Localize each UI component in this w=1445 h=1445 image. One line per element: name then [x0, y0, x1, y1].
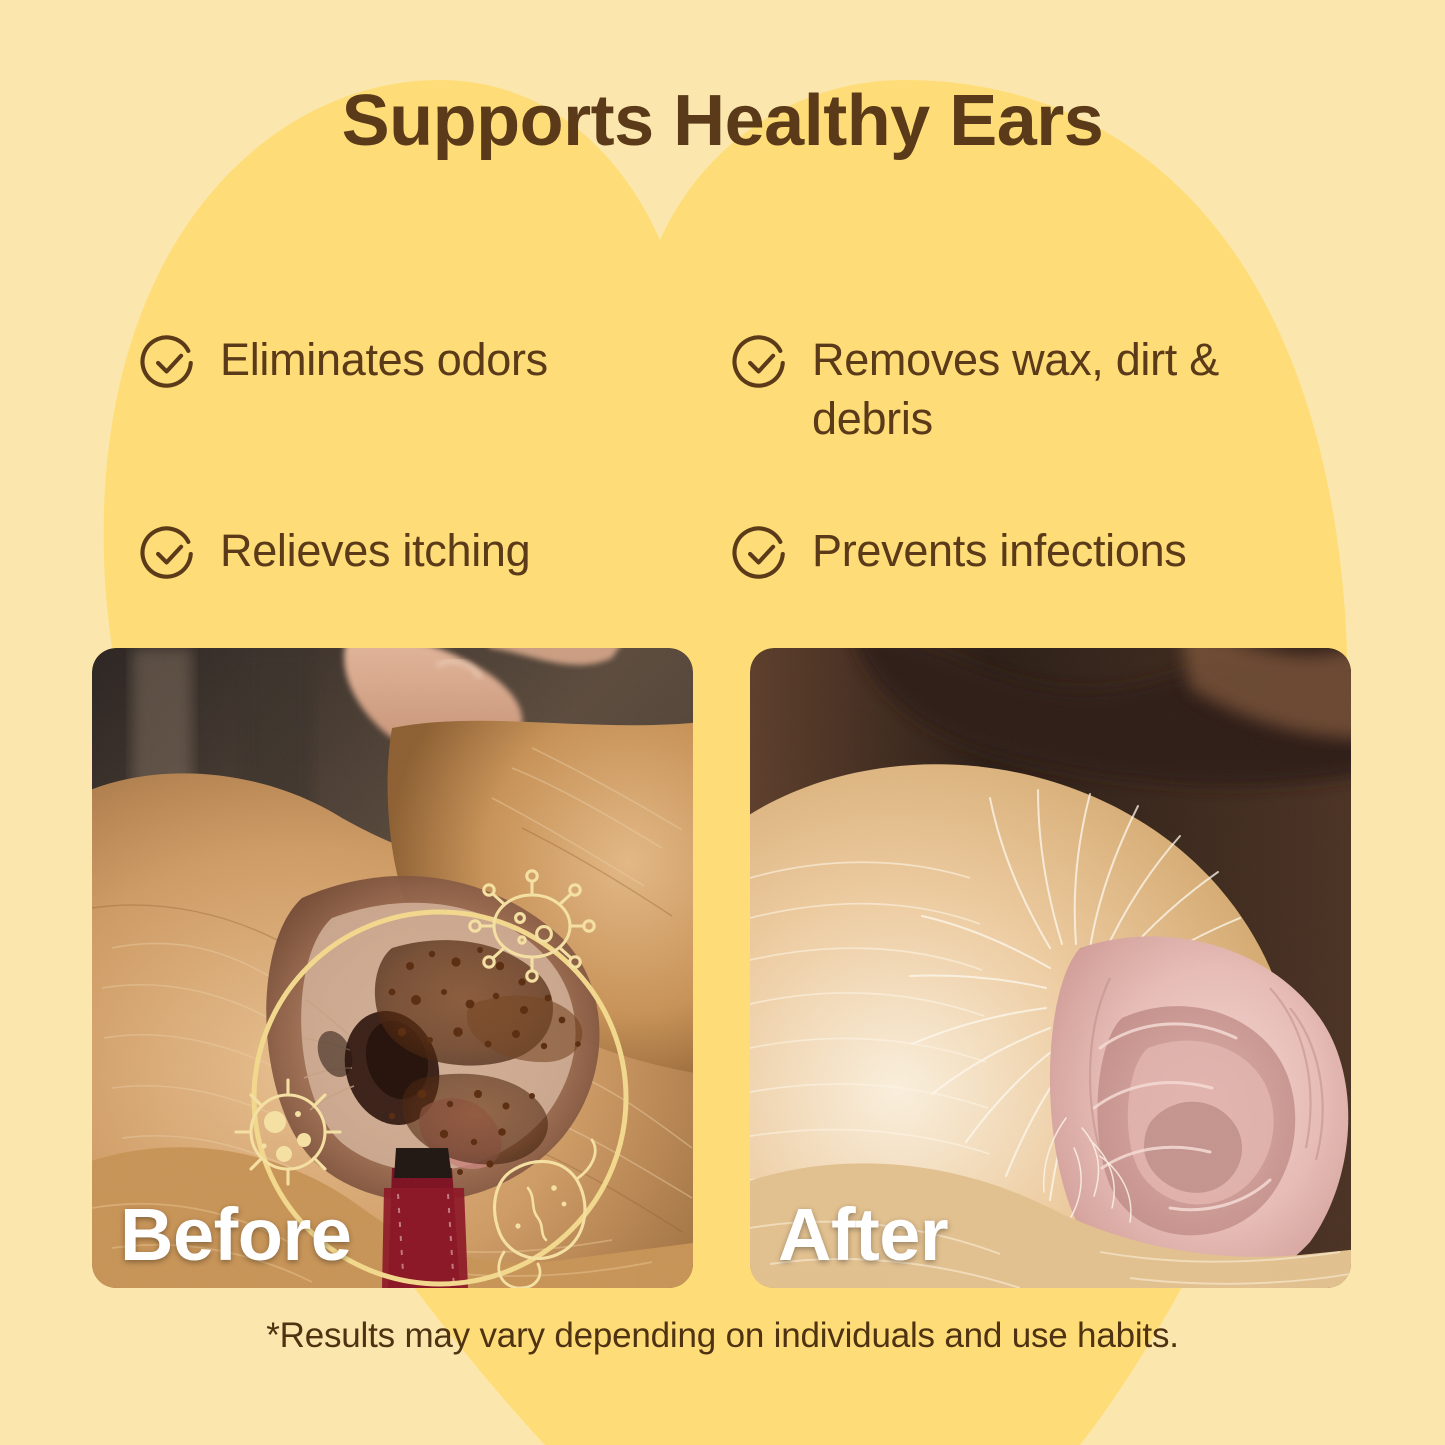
- results-disclaimer: *Results may vary depending on individua…: [0, 1316, 1445, 1356]
- benefit-item: Prevents infections: [732, 521, 1320, 583]
- before-after-comparison: Before: [92, 648, 1354, 1288]
- benefits-list: Eliminates odors Removes wax, dirt & deb…: [140, 330, 1320, 583]
- page-title: Supports Healthy Ears: [0, 84, 1445, 160]
- after-caption: After: [778, 1198, 948, 1272]
- after-photo-image: [750, 648, 1351, 1288]
- check-circle-icon: [140, 525, 198, 583]
- benefit-item: Removes wax, dirt & debris: [732, 330, 1320, 449]
- benefit-item: Relieves itching: [140, 521, 732, 583]
- benefit-label: Relieves itching: [220, 521, 530, 580]
- benefit-item: Eliminates odors: [140, 330, 732, 449]
- benefit-label: Removes wax, dirt & debris: [812, 330, 1320, 449]
- before-photo-card: Before: [92, 648, 693, 1288]
- before-caption: Before: [120, 1198, 351, 1272]
- check-circle-icon: [732, 525, 790, 583]
- check-circle-icon: [140, 334, 198, 392]
- after-photo-card: After: [750, 648, 1351, 1288]
- product-benefits-infographic: Supports Healthy Ears Eliminates odors R…: [0, 0, 1445, 1445]
- benefit-label: Prevents infections: [812, 521, 1187, 580]
- check-circle-icon: [732, 334, 790, 392]
- before-photo-image: [92, 648, 693, 1288]
- benefit-label: Eliminates odors: [220, 330, 548, 389]
